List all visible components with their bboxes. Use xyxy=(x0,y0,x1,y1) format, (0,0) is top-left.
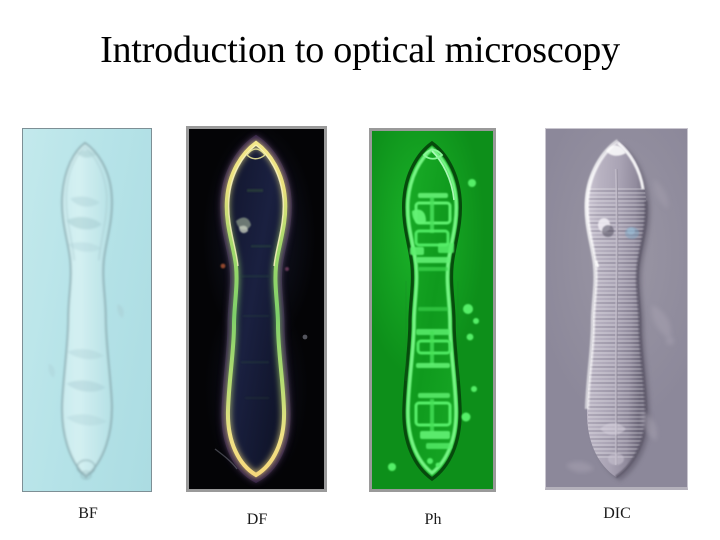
micrograph-panel-dic[interactable] xyxy=(545,128,688,490)
diatom-specimen-df xyxy=(189,129,324,489)
micrograph-panel-ph[interactable] xyxy=(369,128,496,492)
micrograph-panel-df[interactable] xyxy=(186,126,327,492)
micrograph-panel-group: BF xyxy=(0,0,720,540)
diatom-specimen-bf xyxy=(23,129,151,491)
panel-label-bf: BF xyxy=(40,505,136,523)
micrograph-image-ph xyxy=(369,128,496,492)
micrograph-image-bf xyxy=(22,128,152,492)
diatom-specimen-ph xyxy=(372,131,493,489)
panel-label-ph: Ph xyxy=(378,511,488,529)
micrograph-image-dic xyxy=(545,128,688,490)
panel-label-dic: DIC xyxy=(556,505,678,523)
micrograph-panel-bf[interactable] xyxy=(22,128,152,492)
diatom-specimen-dic xyxy=(546,129,687,487)
micrograph-image-df xyxy=(186,126,327,492)
panel-label-df: DF xyxy=(200,511,314,529)
